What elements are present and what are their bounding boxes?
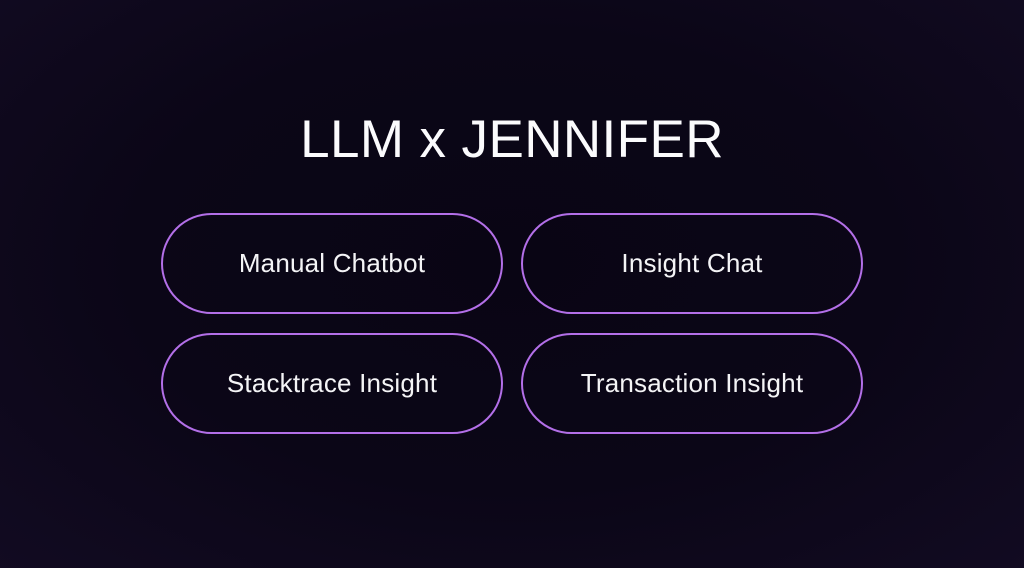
menu-button-stacktrace-insight[interactable]: Stacktrace Insight (161, 333, 503, 434)
menu-button-label: Manual Chatbot (239, 248, 425, 279)
menu-button-insight-chat[interactable]: Insight Chat (521, 213, 863, 314)
menu-button-label: Stacktrace Insight (227, 368, 437, 399)
menu-button-manual-chatbot[interactable]: Manual Chatbot (161, 213, 503, 314)
page-title: LLM x JENNIFER (300, 112, 724, 168)
menu-button-label: Insight Chat (621, 248, 762, 279)
menu-button-transaction-insight[interactable]: Transaction Insight (521, 333, 863, 434)
menu-grid: Manual Chatbot Insight Chat Stacktrace I… (161, 213, 863, 434)
app-screen: LLM x JENNIFER Manual Chatbot Insight Ch… (0, 0, 1024, 568)
menu-button-label: Transaction Insight (581, 368, 804, 399)
